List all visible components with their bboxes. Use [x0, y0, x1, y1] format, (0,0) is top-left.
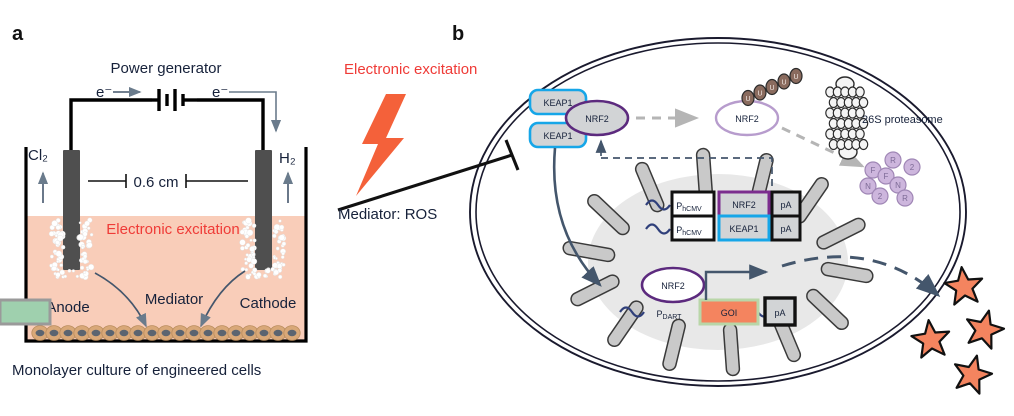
- nrf2-fragment-label: F: [884, 172, 889, 181]
- bubble: [240, 240, 246, 246]
- panel-b-excitation-label: Electronic excitation: [344, 61, 477, 78]
- monolayer-cell-nucleus: [134, 330, 143, 336]
- monolayer-cell-nucleus: [162, 330, 171, 336]
- nrf2-degraded-label: NRF2: [735, 114, 759, 124]
- bubble: [87, 242, 93, 248]
- bubble: [250, 246, 255, 251]
- electron-left-label: e⁻: [96, 84, 112, 101]
- bubble: [60, 264, 63, 267]
- panel-b-mediator-label: Mediator: ROS: [338, 206, 437, 223]
- anode-electrode: [63, 150, 80, 270]
- bubble: [85, 221, 90, 226]
- monolayer-cells: [32, 326, 300, 341]
- bubble: [274, 230, 278, 234]
- anode-label: Anode: [46, 299, 89, 316]
- ubiquitin-label: U: [757, 91, 762, 98]
- bubble: [50, 255, 53, 258]
- figure-svg: a Power generator e⁻ e⁻: [0, 0, 1014, 416]
- keap1-top-label: KEAP1: [543, 98, 572, 108]
- bubble: [279, 220, 282, 223]
- bubble: [246, 275, 251, 280]
- bubble: [282, 263, 285, 266]
- nrf2-fragment-label: N: [865, 182, 871, 191]
- monolayer-cell-nucleus: [246, 330, 255, 336]
- nrf2-bound-label: NRF2: [585, 114, 609, 124]
- monolayer-cell-nucleus: [36, 330, 45, 336]
- nuclear-pore-segment: [723, 323, 740, 376]
- figure-root: a Power generator e⁻ e⁻: [0, 0, 1014, 416]
- proteasome-subunit: [859, 140, 867, 150]
- bubble: [83, 232, 88, 237]
- ubiquitin-label: U: [769, 85, 774, 92]
- cathode-electrode: [255, 150, 272, 270]
- bubble: [282, 252, 285, 255]
- bubble: [52, 266, 57, 271]
- bubble: [273, 257, 276, 260]
- bubble: [250, 239, 253, 242]
- nrf2-fragment-label: 2: [878, 192, 883, 201]
- nrf2-nuclear-label: NRF2: [661, 281, 685, 291]
- bubble: [279, 235, 285, 241]
- electron-right-label: e⁻: [212, 84, 228, 101]
- bubble: [246, 218, 252, 224]
- bubble: [79, 222, 81, 224]
- bubble: [272, 234, 276, 238]
- monolayer-cell-nucleus: [106, 330, 115, 336]
- bubble: [49, 231, 54, 236]
- bubble: [277, 264, 282, 269]
- promoter-box-dart: [0, 300, 50, 324]
- monolayer-cell-nucleus: [176, 330, 185, 336]
- bubble: [56, 260, 59, 263]
- cathode-label: Cathode: [240, 295, 297, 312]
- keap1-bottom-label: KEAP1: [543, 131, 572, 141]
- bubble: [253, 239, 256, 242]
- proteasome-subunit: [859, 98, 867, 108]
- bubble: [81, 246, 84, 249]
- monolayer-cell-nucleus: [274, 330, 283, 336]
- proteasome-label: 26S proteasome: [862, 114, 943, 126]
- monolayer-cell-nucleus: [260, 330, 269, 336]
- monolayer-cell-nucleus: [78, 330, 87, 336]
- bubble: [56, 272, 61, 277]
- nrf2-protein-nuclear: NRF2: [642, 268, 704, 302]
- monolayer-cell-nucleus: [92, 330, 101, 336]
- bubble: [57, 235, 63, 241]
- bubble: [76, 275, 79, 278]
- bubble: [56, 251, 62, 257]
- terminator-goi-label: pA: [774, 308, 785, 318]
- bubble: [245, 235, 249, 239]
- nrf2-fragment-label: N: [895, 181, 901, 190]
- bubble: [281, 256, 284, 259]
- terminator-nrf2-label: pA: [780, 200, 791, 210]
- monolayer-cell-nucleus: [204, 330, 213, 336]
- bubble: [86, 268, 89, 271]
- bubble: [246, 254, 249, 257]
- panel-a-caption: Monolayer culture of engineered cells: [12, 362, 261, 379]
- panel-a-excitation-label: Electronic excitation: [106, 221, 239, 238]
- gas-right-label: H₂: [279, 150, 296, 167]
- bubble: [246, 243, 250, 247]
- bubble: [90, 233, 93, 236]
- bubble: [245, 262, 248, 265]
- bubble: [80, 266, 84, 270]
- bubble: [266, 269, 271, 274]
- bubble: [83, 259, 87, 263]
- monolayer-cell-nucleus: [50, 330, 59, 336]
- bubble: [72, 270, 75, 273]
- ubiquitin-label: U: [793, 74, 798, 81]
- gas-left-label: Cl₂: [28, 147, 48, 164]
- ubiquitin-label: U: [781, 80, 786, 87]
- bubble: [263, 274, 267, 278]
- proteasome-subunit: [856, 129, 864, 139]
- bubble: [64, 275, 67, 278]
- bubble: [252, 224, 256, 228]
- monolayer-cell-nucleus: [218, 330, 227, 336]
- bubble: [277, 261, 280, 264]
- panel-b-letter: b: [452, 23, 464, 45]
- nrf2-protein-bound: NRF2: [566, 101, 628, 135]
- gene-keap1-label: KEAP1: [729, 224, 758, 234]
- bubble: [282, 242, 286, 246]
- nrf2-fragment-label: R: [902, 194, 908, 203]
- nrf2-fragment-label: 2: [910, 163, 915, 172]
- bubble: [251, 258, 257, 264]
- bubble: [56, 225, 61, 230]
- mediator-label: Mediator: [145, 291, 203, 308]
- nrf2-fragment-label: F: [871, 166, 876, 175]
- bubble: [279, 225, 284, 230]
- monolayer-cell-nucleus: [232, 330, 241, 336]
- bubble: [83, 271, 86, 274]
- bubble: [274, 224, 280, 230]
- nrf2-fragment-label: R: [890, 156, 896, 165]
- monolayer-cell-nucleus: [120, 330, 129, 336]
- bubble: [68, 269, 71, 272]
- power-generator-label: Power generator: [111, 60, 222, 77]
- bubble: [57, 269, 60, 272]
- nrf2-protein-degraded: NRF2: [716, 101, 778, 135]
- monolayer-cell-nucleus: [64, 330, 73, 336]
- bubble: [253, 272, 256, 275]
- bubble: [87, 227, 90, 230]
- bubble: [274, 270, 279, 275]
- bubble: [77, 234, 83, 240]
- panel-a-letter: a: [12, 23, 24, 45]
- gap-label: 0.6 cm: [133, 174, 178, 191]
- gene-goi-label: GOI: [721, 308, 738, 318]
- terminator-keap1-label: pA: [780, 224, 791, 234]
- proteasome-subunit: [856, 87, 864, 97]
- bubble: [257, 272, 262, 277]
- bubble: [83, 255, 87, 259]
- bubble: [240, 230, 245, 235]
- bubble: [61, 245, 65, 249]
- gene-nrf2-label: NRF2: [732, 200, 756, 210]
- bubble: [240, 246, 244, 250]
- bubble: [245, 268, 248, 271]
- ubiquitin-label: U: [745, 96, 750, 103]
- monolayer-cell-nucleus: [288, 330, 297, 336]
- monolayer-cell-nucleus: [190, 330, 199, 336]
- monolayer-cell-nucleus: [148, 330, 157, 336]
- bubble: [278, 275, 282, 279]
- bubble: [276, 247, 279, 250]
